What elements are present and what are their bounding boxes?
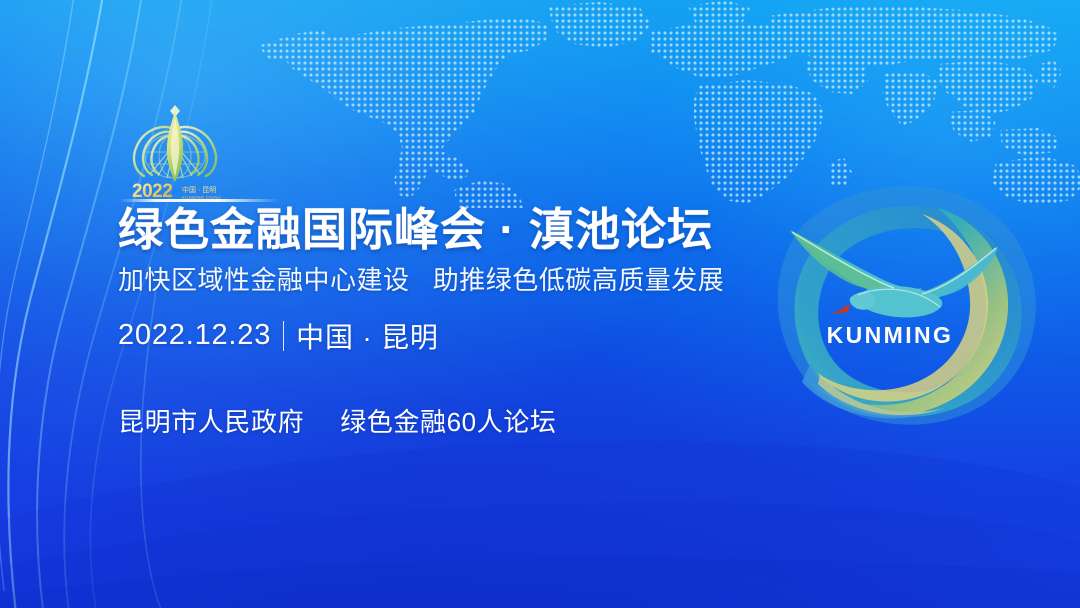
event-date: 2022.12.23	[118, 319, 271, 352]
page-title: 绿色金融国际峰会 · 滇池论坛	[118, 206, 818, 255]
organizer-government: 昆明市人民政府	[118, 402, 304, 439]
kunming-wordmark-text: KUNMING	[827, 322, 954, 348]
date-location-bar: 2022.12.23 中国 · 昆明	[118, 316, 818, 356]
page-subtitle: 加快区域性金融中心建设 助推绿色低碳高质量发展	[118, 265, 818, 296]
world-map-dot-pattern	[248, 0, 1080, 208]
date-location-separator	[283, 321, 284, 351]
organizer-forum: 绿色金融60人论坛	[340, 402, 556, 439]
poster-text-block: 绿色金融国际峰会 · 滇池论坛 加快区域性金融中心建设 助推绿色低碳高质量发展 …	[118, 206, 818, 439]
conference-poster: KUNMING	[0, 0, 1080, 608]
logo-divider-line	[120, 199, 280, 202]
seagull-shape	[790, 230, 998, 317]
subtitle-left: 加快区域性金融中心建设	[118, 265, 410, 295]
summit-emblem-logo: 2022 中国 · 昆明 KUNMING CHINA	[122, 98, 228, 202]
summit-logo-caption-cn: 中国 · 昆明	[182, 185, 216, 194]
organizers-row: 昆明市人民政府 绿色金融60人论坛	[118, 402, 818, 439]
event-location: 中国 · 昆明	[296, 316, 438, 356]
subtitle-right: 助推绿色低碳高质量发展	[433, 265, 725, 295]
